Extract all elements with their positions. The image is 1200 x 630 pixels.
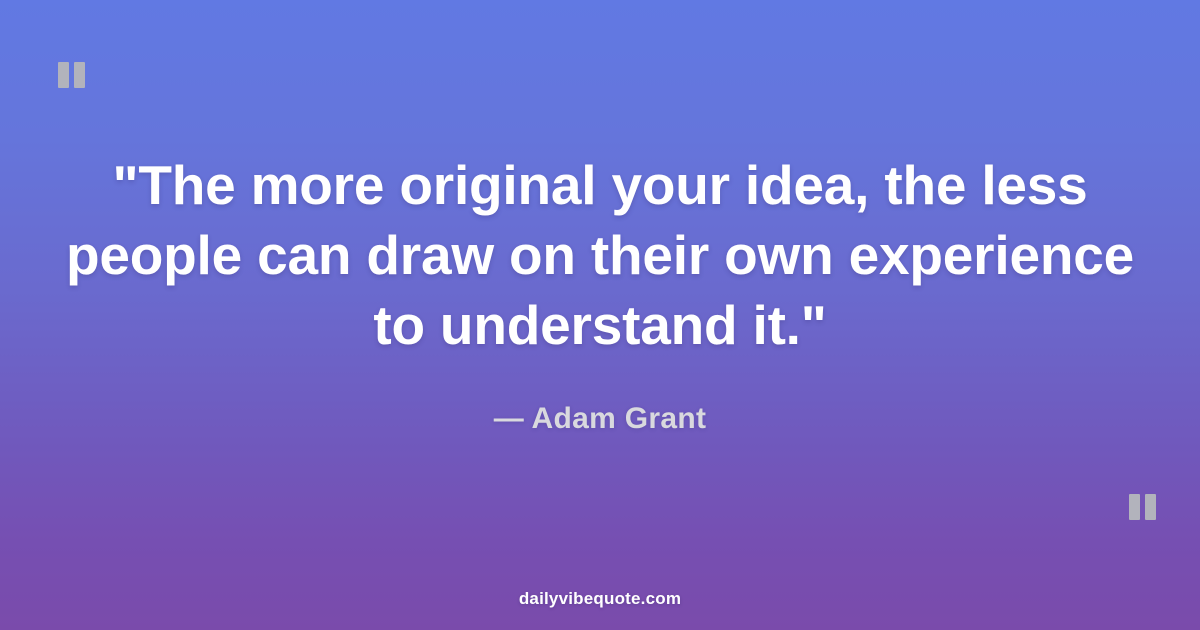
quote-bars-icon-open: [58, 62, 85, 88]
quote-author: — Adam Grant: [0, 399, 1200, 439]
site-footer: dailyvibequote.com: [0, 588, 1200, 610]
quote-text: "The more original your idea, the less p…: [0, 150, 1200, 360]
quote-bar-left: [1129, 494, 1140, 520]
quote-line-1: "The more original your idea, the less: [24, 150, 1176, 220]
quote-bar-left: [58, 62, 69, 88]
site-name: dailyvibequote.com: [519, 589, 681, 608]
quote-line-3: to understand it.": [24, 290, 1176, 360]
quote-bars-icon-close: [1129, 494, 1156, 520]
quote-line-2: people can draw on their own experience: [24, 220, 1176, 290]
quote-card: "The more original your idea, the less p…: [0, 0, 1200, 630]
quote-bar-right: [1145, 494, 1156, 520]
quote-bar-right: [74, 62, 85, 88]
